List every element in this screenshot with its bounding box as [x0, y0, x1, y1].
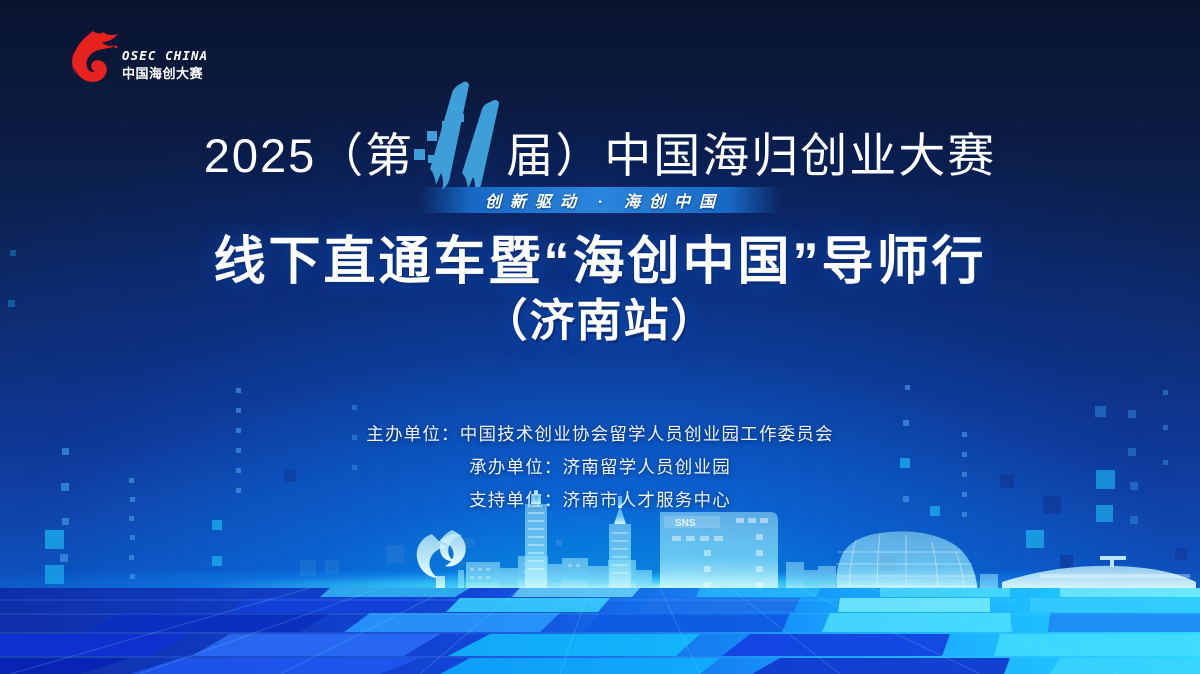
organizer-organizer: 承办单位：济南留学人员创业园	[0, 451, 1200, 484]
decor-square	[1163, 390, 1168, 395]
title-suffix: 届）	[506, 129, 604, 182]
title-competition-name: 中国海归创业大赛	[604, 129, 996, 182]
competition-title-line: 2025（第 届）中国海归创业大赛	[204, 128, 997, 179]
decor-square	[1095, 406, 1106, 417]
tall-tower	[525, 490, 547, 595]
logo-chinese-name: 中国海创大赛	[122, 67, 212, 80]
organizer-host: 主办单位：中国技术创业协会留学人员创业园工作委员会	[0, 418, 1200, 451]
decor-square	[352, 405, 357, 410]
jinan-skyline-silhouette: SNS	[0, 490, 1200, 600]
headline-sub: （济南站）	[0, 295, 1200, 347]
double-slash-icon	[406, 77, 514, 197]
logo-english-name: OSEC CHINA	[122, 50, 212, 63]
sns-building-label: SNS	[675, 518, 696, 529]
headline-main: 线下直通车暨“海创中国”导师行	[0, 233, 1200, 291]
title-block: 2025（第 届）中国海归创业大赛	[0, 128, 1200, 347]
perspective-grid-floor	[0, 588, 1200, 674]
floor-tiles-row-1	[320, 588, 1200, 597]
osec-china-logo: OSEC CHINA 中国海创大赛	[62, 28, 210, 90]
decor-square	[1128, 410, 1136, 418]
sns-tower: SNS	[660, 512, 778, 595]
decor-square	[236, 388, 241, 393]
decor-square	[236, 408, 241, 413]
ordinal-slash-mark	[414, 155, 506, 156]
flame-icon	[62, 28, 122, 86]
title-prefix: （第	[316, 129, 414, 182]
city-scene: SNS	[0, 494, 1200, 674]
pointed-tower	[609, 496, 631, 595]
decor-square	[905, 385, 910, 390]
curved-glass-building	[835, 531, 978, 595]
logo-wordmark: OSEC CHINA 中国海创大赛	[122, 50, 212, 80]
tagline-text: 创新驱动 · 海创中国	[476, 188, 724, 212]
poster-canvas: OSEC CHINA 中国海创大赛 2025（第	[0, 0, 1200, 674]
tagline-banner: 创新驱动 · 海创中国	[420, 187, 780, 213]
title-year: 2025	[204, 129, 317, 182]
